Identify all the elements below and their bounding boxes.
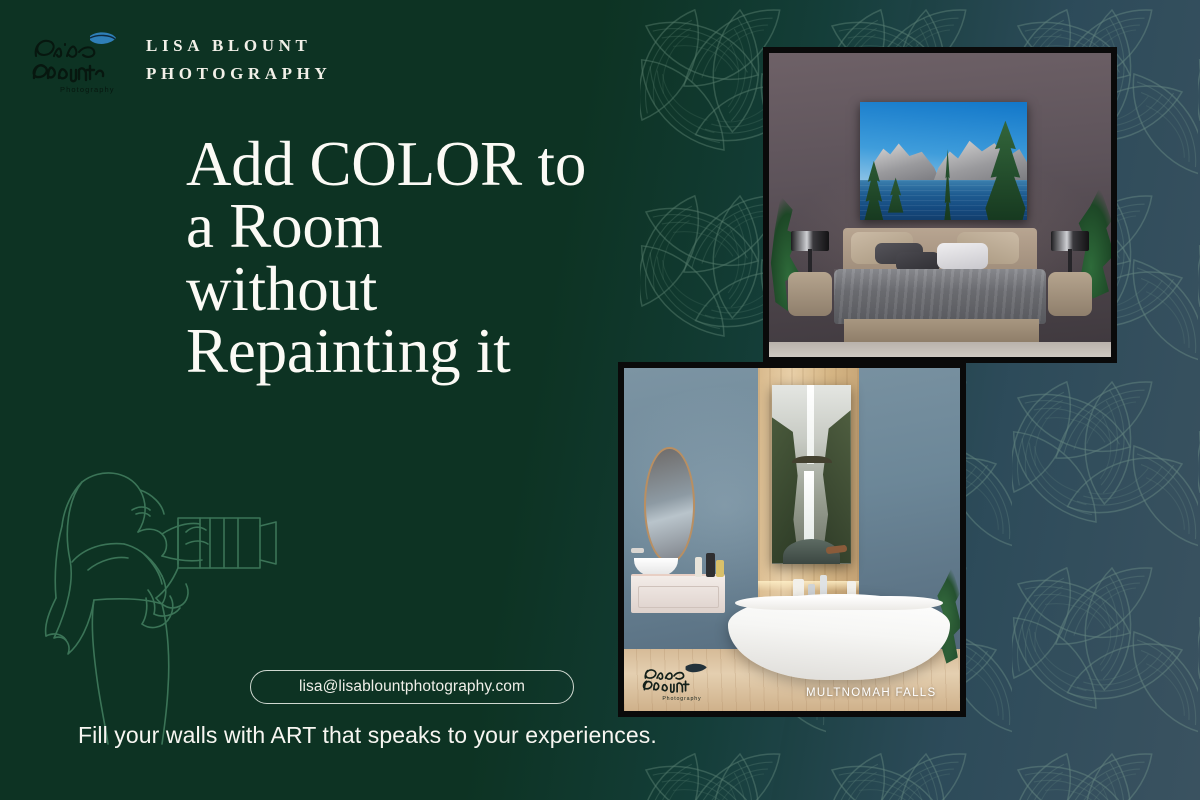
wordmark-line-2: PHOTOGRAPHY: [146, 60, 331, 88]
email-text: lisa@lisablountphotography.com: [299, 678, 525, 696]
bathtub-rim: [735, 596, 943, 610]
multnomah-falls-print: [772, 385, 851, 563]
bedroom-floor: [769, 342, 1111, 357]
email-badge[interactable]: lisa@lisablountphotography.com: [250, 670, 574, 704]
vanity-bottle: [716, 560, 723, 577]
headline-line-3: without: [186, 258, 666, 320]
bedside-lamp: [791, 231, 829, 251]
brand-wordmark: LISA BLOUNT PHOTOGRAPHY: [146, 32, 331, 87]
nightstand: [788, 272, 832, 316]
woman-photographer-line-art: [28, 448, 278, 748]
svg-text:Photography: Photography: [663, 696, 702, 702]
brand-logo-block: Photography LISA BLOUNT PHOTOGRAPHY: [24, 22, 331, 98]
headline-line-2: a Room: [186, 195, 666, 257]
lisa-blount-watermark-icon: Photography: [637, 660, 711, 705]
grand-teton-print: [860, 102, 1028, 221]
vanity-bottle: [695, 557, 702, 578]
oval-mirror: [644, 447, 694, 564]
print-lower-falls: [804, 471, 814, 542]
lisa-blount-script-logo-icon: Photography: [24, 22, 120, 98]
poster-canvas: Photography LISA BLOUNT PHOTOGRAPHY Add …: [0, 0, 1200, 800]
bathroom-mockup-photo: Photography MULTNOMAH FALLS: [618, 362, 966, 717]
svg-text:Photography: Photography: [60, 85, 115, 94]
bedside-lamp-stem: [1068, 249, 1073, 272]
bedroom-mockup-photo: [763, 47, 1117, 363]
artwork-caption: MULTNOMAH FALLS: [806, 687, 936, 699]
nightstand: [1048, 272, 1092, 316]
vanity-bottle: [706, 553, 715, 577]
headline-line-4: Repainting it: [186, 320, 666, 382]
bed-bedding: [834, 269, 1046, 324]
bed-pillow: [937, 243, 988, 269]
bedside-lamp-stem: [808, 249, 813, 272]
headline-line-1: Add COLOR to: [186, 133, 666, 195]
page-title: Add COLOR to a Room without Repainting i…: [186, 133, 666, 382]
wordmark-line-1: LISA BLOUNT: [146, 32, 331, 60]
print-bridge: [792, 456, 831, 462]
sink-faucet: [631, 548, 644, 553]
print-upper-falls: [807, 385, 814, 463]
tagline: Fill your walls with ART that speaks to …: [78, 722, 657, 749]
floating-vanity: [631, 574, 725, 613]
bedside-lamp: [1051, 231, 1089, 251]
